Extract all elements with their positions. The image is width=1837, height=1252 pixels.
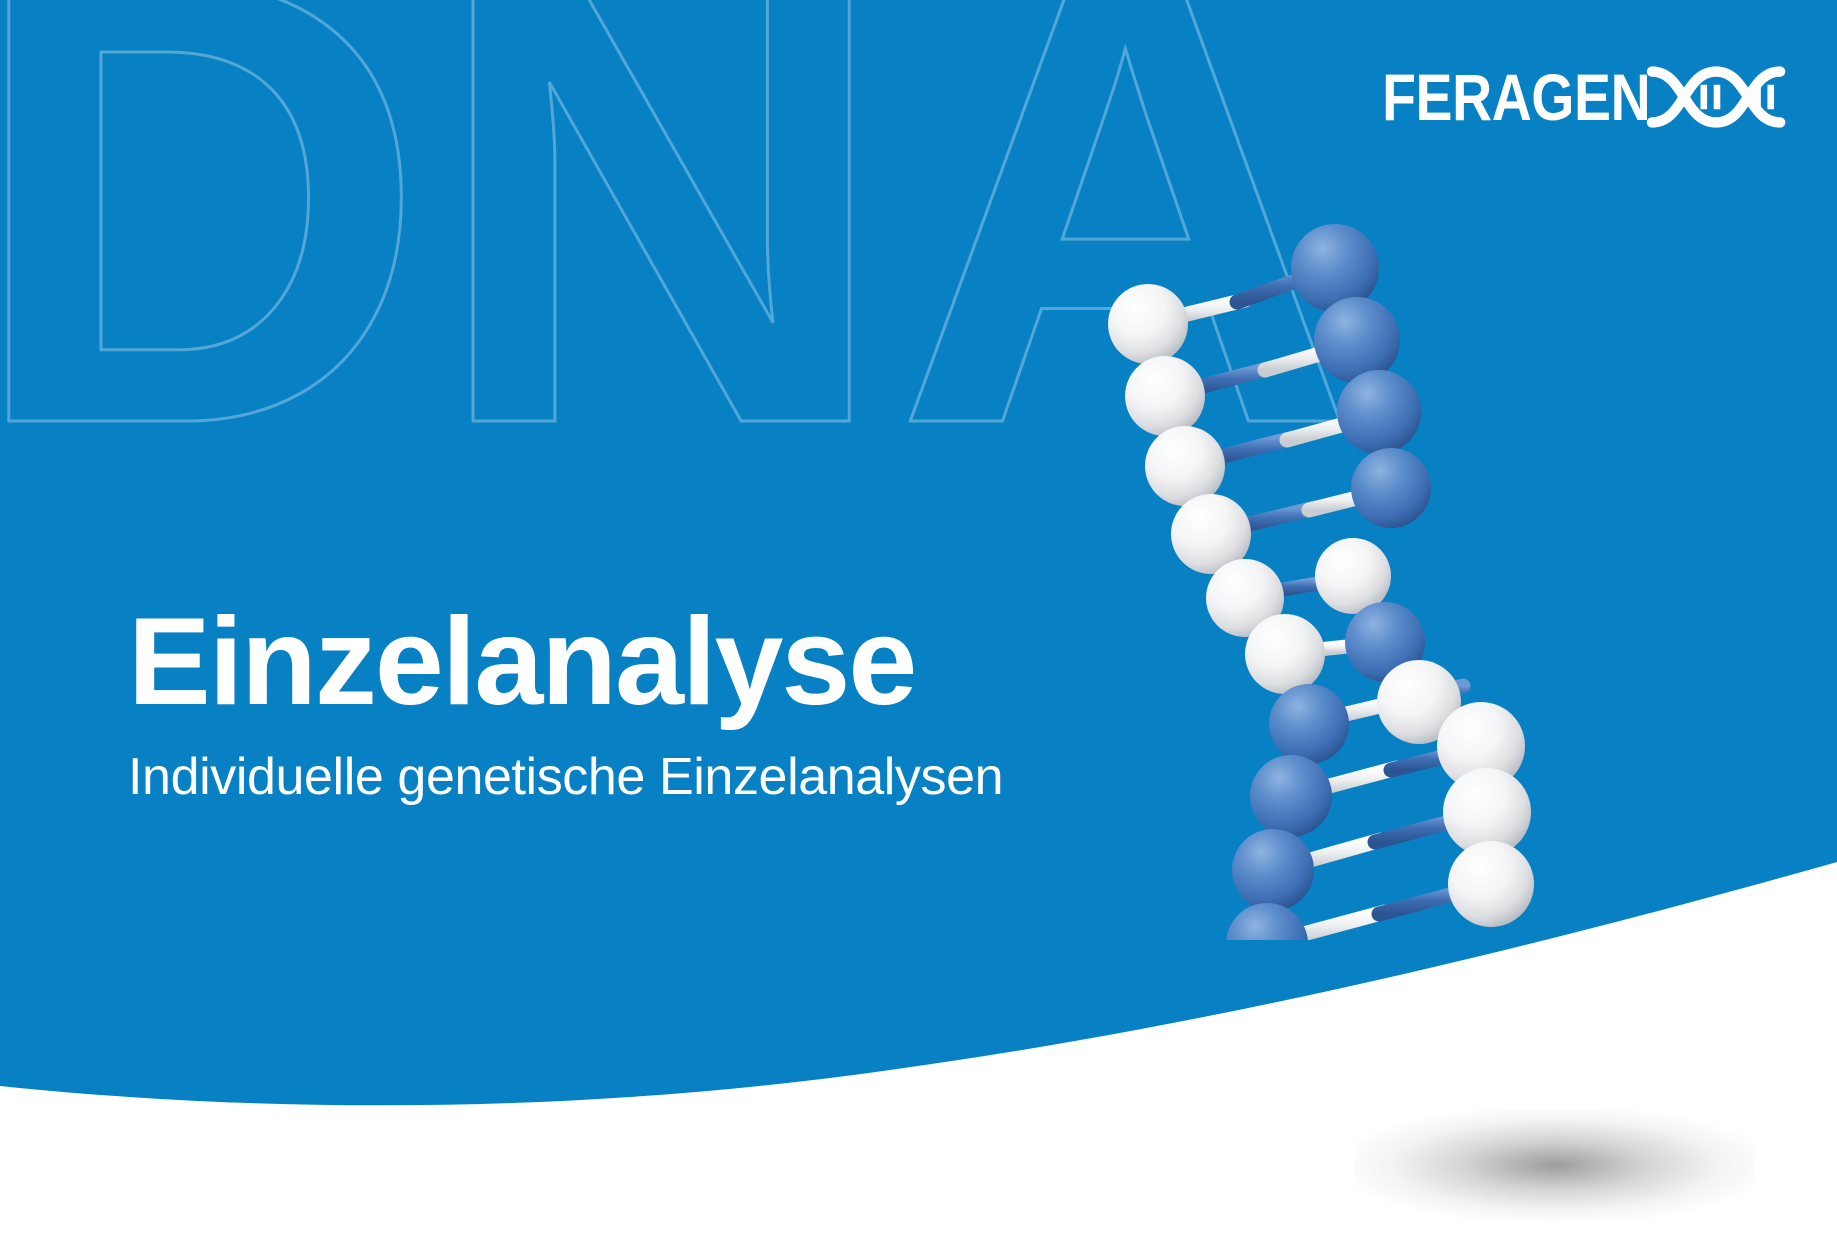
page-subtitle: Individuelle genetische Einzelanalysen <box>128 746 1228 808</box>
dna-analysis-banner: DNA FERAGEN Einzelanalyse Individuelle g… <box>0 0 1837 1252</box>
page-title: Einzelanalyse <box>128 600 1228 724</box>
dna-double-helix-3d <box>1085 200 1645 940</box>
dna-drop-shadow <box>1355 1110 1755 1220</box>
brand-logo[interactable]: FERAGEN <box>1331 55 1788 139</box>
hero-text-block: Einzelanalyse Individuelle genetische Ei… <box>128 600 1228 808</box>
dna-helix-icon <box>1646 64 1788 130</box>
brand-wordmark: FERAGEN <box>1382 64 1650 130</box>
